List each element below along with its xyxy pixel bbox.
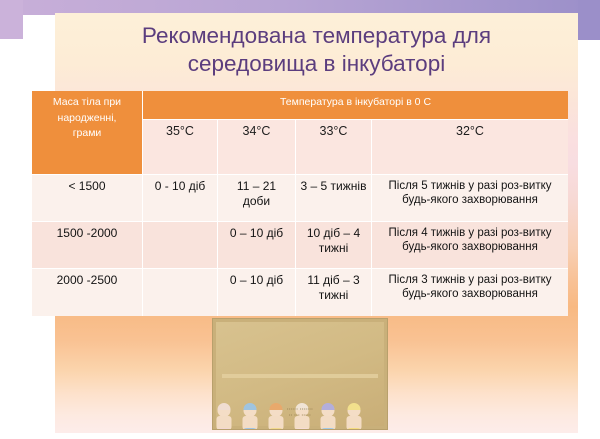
cell-t33-0: 3 – 5 тижнів: [296, 175, 372, 222]
subheader-temp-34: 34°C: [218, 120, 296, 175]
cell-weight-2: 2000 -2500: [32, 269, 143, 316]
baby-pants: [215, 428, 233, 430]
header-cell-incubator-temperature: Температура в інкубаторі в 0 С: [143, 91, 568, 120]
header-birth-weight-line-1: Маса тіла при: [36, 95, 138, 111]
cell-t34-2: 0 – 10 діб: [218, 269, 296, 316]
cell-weight-1: 1500 -2000: [32, 222, 143, 269]
subheader-temp-35: 35°C: [143, 120, 218, 175]
cell-t32-1: Після 4 тижнів у разі роз-витку будь-яко…: [372, 222, 568, 269]
cell-t34-0: 11 – 21 доби: [218, 175, 296, 222]
cell-t35-1: [143, 222, 218, 269]
illustration-caption: •••••• ••••••• •• ••• •••••: [216, 406, 384, 418]
subheader-temp-32: 32°C: [372, 120, 568, 175]
temperature-table: Маса тіла при народженні, грами Температ…: [32, 91, 568, 316]
baby-pants: [319, 428, 337, 430]
cell-weight-0: < 1500: [32, 175, 143, 222]
cell-t35-2: [143, 269, 218, 316]
cell-t32-0: Після 5 тижнів у разі роз-витку будь-яко…: [372, 175, 568, 222]
table-row: 1500 -2000 0 – 10 діб 10 діб – 4 тижні П…: [32, 222, 568, 269]
subheader-temp-33: 33°C: [296, 120, 372, 175]
cell-t33-2: 11 діб – 3 тижні: [296, 269, 372, 316]
illustration-paper: •••••• ••••••• •• ••• •••••: [216, 322, 384, 426]
decor-purple-block-left: [0, 0, 23, 39]
illustration-caption-line-2: •• ••• •••••: [216, 412, 384, 418]
table-header-row-top: Маса тіла при народженні, грами Температ…: [32, 91, 568, 120]
table-row: 2000 -2500 0 – 10 діб 11 діб – 3 тижні П…: [32, 269, 568, 316]
baby-pants: [345, 428, 363, 430]
cell-t34-1: 0 – 10 діб: [218, 222, 296, 269]
cell-t35-0: 0 - 10 діб: [143, 175, 218, 222]
baby-pants: [267, 428, 285, 430]
page-title: Рекомендована температура для середовища…: [55, 22, 578, 78]
baby-pants: [293, 428, 311, 430]
illustration-rope: [222, 374, 378, 378]
page-title-line-1: Рекомендована температура для: [55, 22, 578, 50]
header-birth-weight-line-2: народженні,: [36, 111, 138, 127]
header-birth-weight-line-3: грами: [36, 126, 138, 142]
header-cell-birth-weight: Маса тіла при народженні, грами: [32, 91, 143, 175]
table-row: < 1500 0 - 10 діб 11 – 21 доби 3 – 5 тиж…: [32, 175, 568, 222]
decor-purple-block-right: [578, 0, 600, 40]
baby-pants: [241, 428, 259, 430]
cell-t32-2: Після 3 тижнів у разі роз-витку будь-яко…: [372, 269, 568, 316]
cell-t33-1: 10 діб – 4 тижні: [296, 222, 372, 269]
vintage-babies-illustration: •••••• ••••••• •• ••• •••••: [212, 318, 388, 430]
page-title-line-2: середовища в інкубаторі: [55, 50, 578, 78]
